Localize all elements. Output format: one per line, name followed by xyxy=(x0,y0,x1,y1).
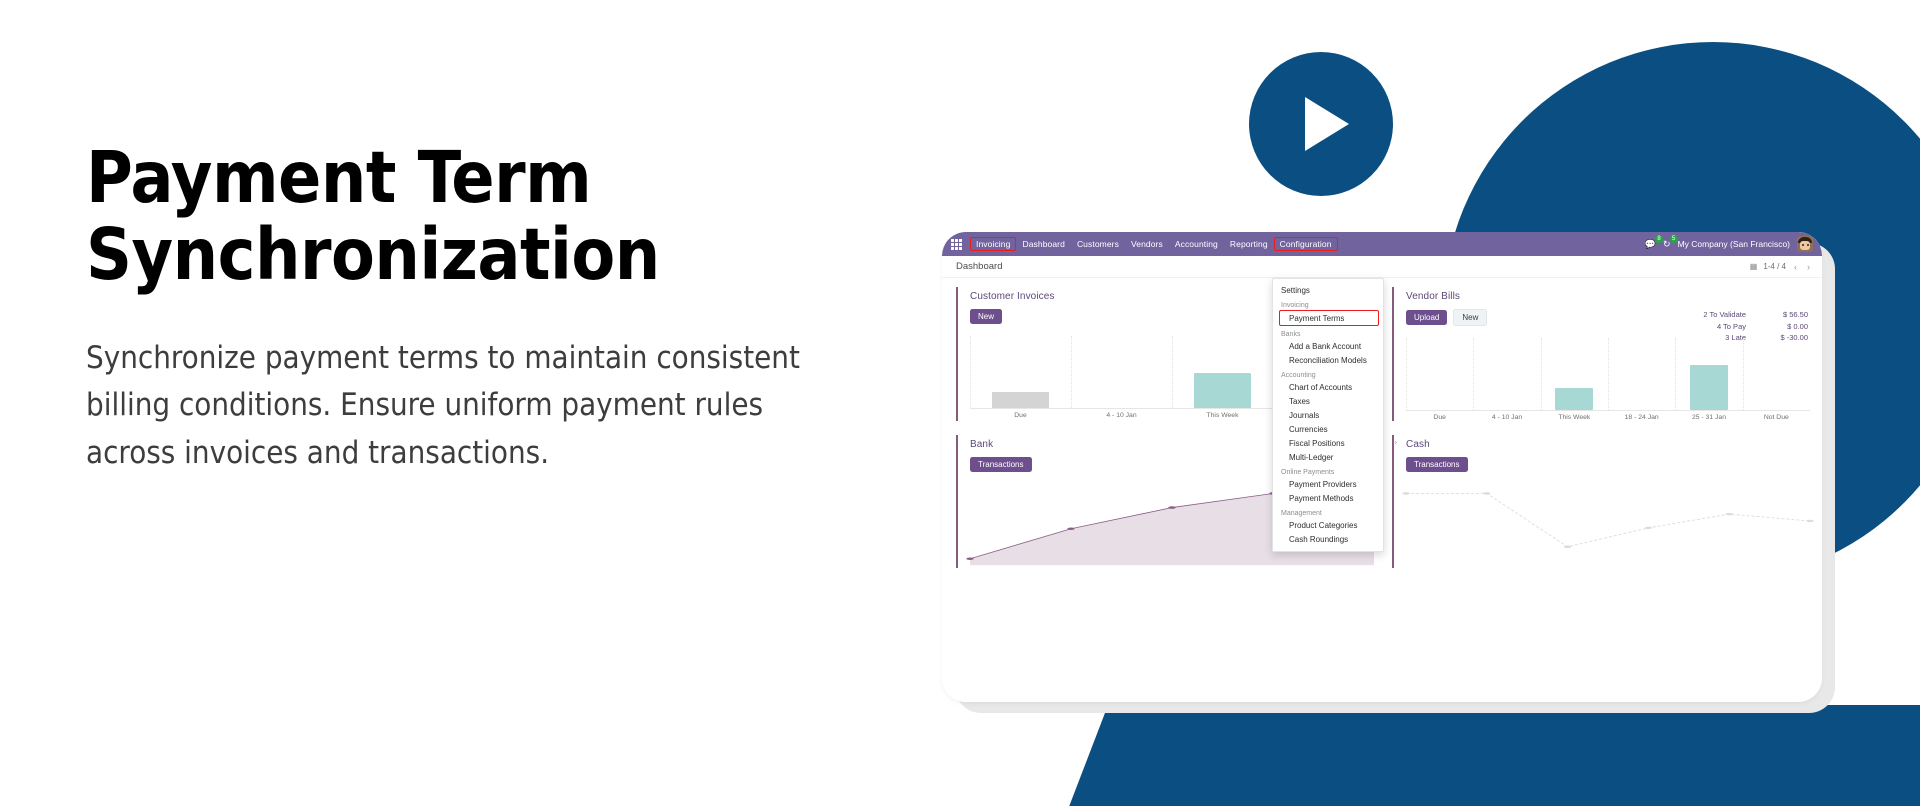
axis-tick-label: 25 - 31 Jan xyxy=(1675,414,1742,421)
bar-slot xyxy=(1675,338,1742,410)
nav-item-vendors[interactable]: Vendors xyxy=(1125,237,1169,251)
dropdown-sections: InvoicingPayment TermsBanksAdd a Bank Ac… xyxy=(1273,297,1383,546)
bar[interactable] xyxy=(1194,373,1251,408)
chart-point[interactable] xyxy=(1726,513,1733,516)
kpi-value: $ 56.50 xyxy=(1768,309,1808,321)
bar-slot xyxy=(1473,338,1540,410)
play-button[interactable] xyxy=(1249,52,1393,196)
dropdown-item-currencies[interactable]: Currencies xyxy=(1273,422,1383,436)
dropdown-group-label: Invoicing xyxy=(1273,297,1383,310)
dropdown-item-settings[interactable]: Settings xyxy=(1273,283,1383,297)
cash-transactions-button[interactable]: Transactions xyxy=(1406,457,1468,472)
bar-slot xyxy=(1541,338,1608,410)
kpi-label[interactable]: 2 To Validate xyxy=(1703,309,1746,321)
apps-grid-icon[interactable] xyxy=(951,239,962,250)
bar-slot xyxy=(970,336,1071,408)
axis-tick-label: Due xyxy=(970,412,1071,419)
dropdown-item-add-a-bank-account[interactable]: Add a Bank Account xyxy=(1273,339,1383,353)
dropdown-item-taxes[interactable]: Taxes xyxy=(1273,394,1383,408)
bar-series xyxy=(1406,338,1810,410)
hero-banner: Payment Term Synchronization Synchronize… xyxy=(0,0,1920,806)
dropdown-group-label: Accounting xyxy=(1273,367,1383,380)
new-invoice-button[interactable]: New xyxy=(970,309,1002,324)
chart-vendor-bills xyxy=(1406,338,1810,410)
axis-tick-label: This Week xyxy=(1541,414,1608,421)
dropdown-item-chart-of-accounts[interactable]: Chart of Accounts xyxy=(1273,380,1383,394)
chart-cash xyxy=(1406,482,1810,568)
pager-previous-icon[interactable]: ‹ xyxy=(1792,262,1799,272)
kpi-value: $ 0.00 xyxy=(1768,321,1808,333)
axis-tick-label: 4 - 10 Jan xyxy=(1071,412,1172,419)
axis-tick-label: Not Due xyxy=(1743,414,1810,421)
dropdown-item-product-categories[interactable]: Product Categories xyxy=(1273,518,1383,532)
hero-copy: Payment Term Synchronization Synchronize… xyxy=(86,140,846,477)
nav-item-invoicing[interactable]: Invoicing xyxy=(970,237,1016,251)
dropdown-item-payment-methods[interactable]: Payment Methods xyxy=(1273,491,1383,505)
upload-bill-button[interactable]: Upload xyxy=(1406,310,1447,325)
play-icon xyxy=(1305,97,1349,151)
dropdown-group-label: Management xyxy=(1273,505,1383,518)
pager-next-icon[interactable]: › xyxy=(1805,262,1812,272)
app-navbar: Invoicing Dashboard Customers Vendors Ac… xyxy=(942,232,1822,256)
bar[interactable] xyxy=(1690,365,1728,410)
panel-actions-cash: Transactions xyxy=(1406,457,1810,472)
device-frame: Invoicing Dashboard Customers Vendors Ac… xyxy=(942,232,1822,702)
navbar-right-cluster: 💬 8 ↻ 5 My Company (San Francisco) xyxy=(1645,236,1815,252)
nav-item-configuration[interactable]: Configuration xyxy=(1274,237,1338,251)
chart-point[interactable] xyxy=(1067,527,1074,530)
configuration-dropdown-menu: Settings InvoicingPayment TermsBanksAdd … xyxy=(1272,278,1384,552)
chart-axis-line xyxy=(1406,410,1810,411)
dropdown-item-payment-providers[interactable]: Payment Providers xyxy=(1273,477,1383,491)
bar-slot xyxy=(1608,338,1675,410)
avatar[interactable] xyxy=(1797,236,1813,252)
panel-title-vendor-bills: Vendor Bills xyxy=(1406,291,1810,302)
dropdown-item-journals[interactable]: Journals xyxy=(1273,408,1383,422)
chart-point[interactable] xyxy=(1645,527,1652,530)
bar[interactable] xyxy=(1555,388,1593,410)
chart-point[interactable] xyxy=(966,557,973,560)
new-bill-button[interactable]: New xyxy=(1453,309,1487,326)
dropdown-item-cash-roundings[interactable]: Cash Roundings xyxy=(1273,532,1383,546)
axis-tick-label: This Week xyxy=(1172,412,1273,419)
messages-icon[interactable]: 💬 8 xyxy=(1645,240,1656,249)
nav-item-customers[interactable]: Customers xyxy=(1071,237,1125,251)
dropdown-item-payment-terms[interactable]: Payment Terms xyxy=(1279,310,1379,326)
view-switcher-icon[interactable]: ▦ xyxy=(1750,262,1758,271)
dropdown-group-label: Online Payments xyxy=(1273,464,1383,477)
dropdown-item-multi-ledger[interactable]: Multi-Ledger xyxy=(1273,450,1383,464)
dropdown-item-reconciliation-models[interactable]: Reconciliation Models xyxy=(1273,353,1383,367)
axis-tick-label: 4 - 10 Jan xyxy=(1473,414,1540,421)
panel-title-cash: Cash xyxy=(1406,439,1810,450)
app-screenshot: Invoicing Dashboard Customers Vendors Ac… xyxy=(942,232,1822,702)
activities-clock-icon[interactable]: ↻ 5 xyxy=(1663,240,1671,249)
control-panel-right: ▦ 1-4 / 4 ‹ › xyxy=(1750,262,1812,272)
nav-item-accounting[interactable]: Accounting xyxy=(1169,237,1224,251)
bar-slot xyxy=(1172,336,1273,408)
chart-point[interactable] xyxy=(1806,520,1813,523)
bank-transactions-button[interactable]: Transactions xyxy=(970,457,1032,472)
bar-slot xyxy=(1406,338,1473,410)
nav-item-reporting[interactable]: Reporting xyxy=(1224,237,1274,251)
chart-point[interactable] xyxy=(1564,545,1571,548)
bar-slot xyxy=(1071,336,1172,408)
chevron-right-icon: › xyxy=(1395,440,1397,447)
dropdown-group-label: Banks xyxy=(1273,326,1383,339)
panel-cash: Cash Transactions xyxy=(1392,435,1810,568)
bar-slot xyxy=(1743,338,1810,410)
chart-point[interactable] xyxy=(1483,492,1490,495)
activities-badge: 5 xyxy=(1670,235,1678,243)
page-title: Payment Term Synchronization xyxy=(86,140,846,293)
messages-badge: 8 xyxy=(1655,235,1663,243)
chart-axis-labels: Due4 - 10 JanThis Week18 - 24 Jan25 - 31… xyxy=(1406,414,1810,421)
chart-point[interactable] xyxy=(1168,506,1175,509)
breadcrumb[interactable]: Dashboard xyxy=(956,261,1002,272)
kpi-label[interactable]: 4 To Pay xyxy=(1717,321,1746,333)
decorative-blue-parallelogram xyxy=(1062,705,1920,806)
chart-point[interactable] xyxy=(1402,492,1409,495)
chart-line xyxy=(1406,493,1810,546)
dropdown-item-fiscal-positions[interactable]: Fiscal Positions› xyxy=(1273,436,1383,450)
bar[interactable] xyxy=(992,392,1049,408)
axis-tick-label: 18 - 24 Jan xyxy=(1608,414,1675,421)
panel-vendor-bills: Vendor Bills Upload New 2 To Validate$ 5… xyxy=(1392,287,1810,421)
hero-description: Synchronize payment terms to maintain co… xyxy=(86,335,816,476)
control-panel: Dashboard ▦ 1-4 / 4 ‹ › xyxy=(942,256,1822,278)
company-switcher[interactable]: My Company (San Francisco) xyxy=(1678,239,1790,249)
axis-tick-label: Due xyxy=(1406,414,1473,421)
nav-item-dashboard[interactable]: Dashboard xyxy=(1016,237,1070,251)
pager-counter: 1-4 / 4 xyxy=(1763,262,1786,271)
